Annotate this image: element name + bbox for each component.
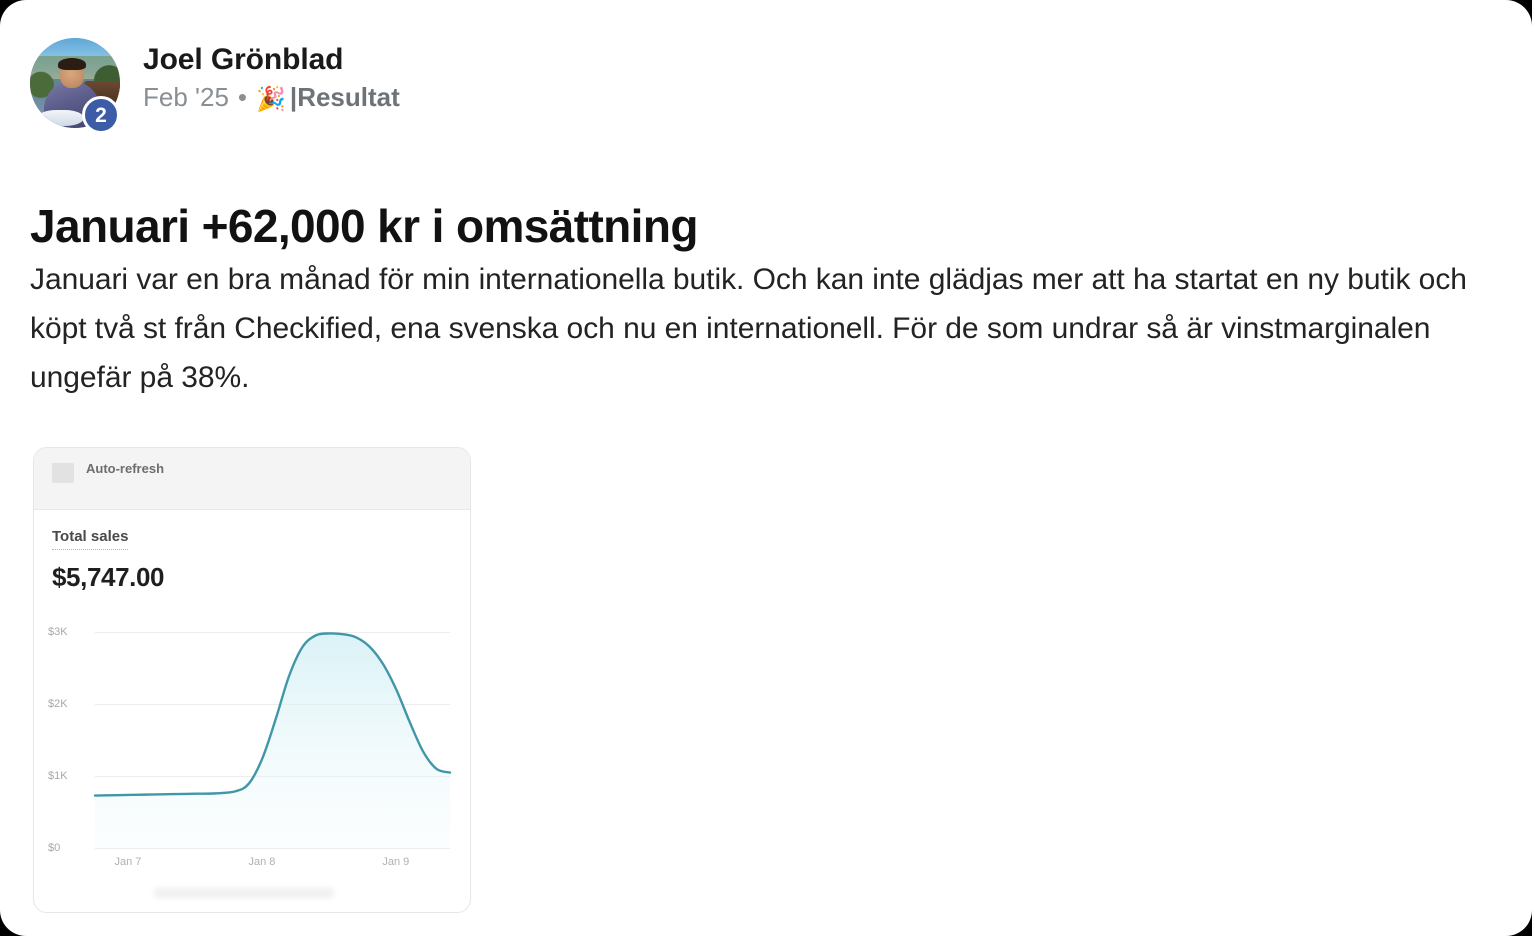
x-axis-tick-label: Jan 9	[382, 856, 409, 868]
auto-refresh-block: Auto-refresh	[86, 462, 164, 480]
post-card: 2 Joel Grönblad Feb '25 • 🎉 |Resultat Ja…	[0, 0, 1532, 936]
post-header: 2 Joel Grönblad Feb '25 • 🎉 |Resultat	[30, 38, 400, 128]
x-axis-tick-label: Jan 8	[249, 856, 276, 868]
party-popper-icon: 🎉	[256, 86, 286, 115]
page-title: Januari +62,000 kr i omsättning	[30, 201, 698, 252]
post-date: Feb '25	[143, 82, 229, 113]
x-axis-tick-label: Jan 7	[115, 856, 142, 868]
author-name[interactable]: Joel Grönblad	[143, 42, 400, 77]
post-category-link[interactable]: |Resultat	[290, 82, 400, 113]
auto-refresh-label[interactable]: Auto-refresh	[86, 462, 164, 476]
y-axis-tick-label: $1K	[48, 770, 90, 782]
y-axis-tick-label: $2K	[48, 698, 90, 710]
meta-separator-dot: •	[238, 82, 247, 113]
header-text-block: Joel Grönblad Feb '25 • 🎉 |Resultat	[143, 38, 400, 114]
sales-chart[interactable]: $0$1K$2K$3K Jan 7Jan 8Jan 9	[48, 618, 458, 888]
post-body-text: Januari var en bra månad för min interna…	[30, 256, 1500, 403]
analytics-screenshot-card[interactable]: Auto-refresh Total sales $5,747.00 $0$1K…	[33, 447, 471, 913]
y-axis-tick-label: $0	[48, 842, 90, 854]
chart-line-svg	[95, 618, 450, 848]
card-topbar: Auto-refresh	[34, 448, 470, 510]
chart-plot-region	[95, 618, 450, 848]
level-badge: 2	[82, 96, 120, 134]
metric-label[interactable]: Total sales	[52, 529, 128, 550]
metric-value: $5,747.00	[52, 563, 452, 592]
post-meta: Feb '25 • 🎉 |Resultat	[143, 82, 400, 114]
y-axis-tick-label: $3K	[48, 626, 90, 638]
gridline	[95, 848, 450, 849]
card-body: Total sales $5,747.00 $0$1K$2K$3K Jan 7J…	[34, 510, 470, 912]
avatar-wrapper[interactable]: 2	[30, 38, 120, 128]
chart-area-fill	[95, 633, 450, 848]
avatar-photo-person-hair	[58, 58, 86, 71]
avatar-photo-plate	[37, 110, 84, 126]
card-footer-placeholder	[154, 888, 334, 898]
checkbox-unchecked-icon[interactable]	[52, 463, 74, 483]
